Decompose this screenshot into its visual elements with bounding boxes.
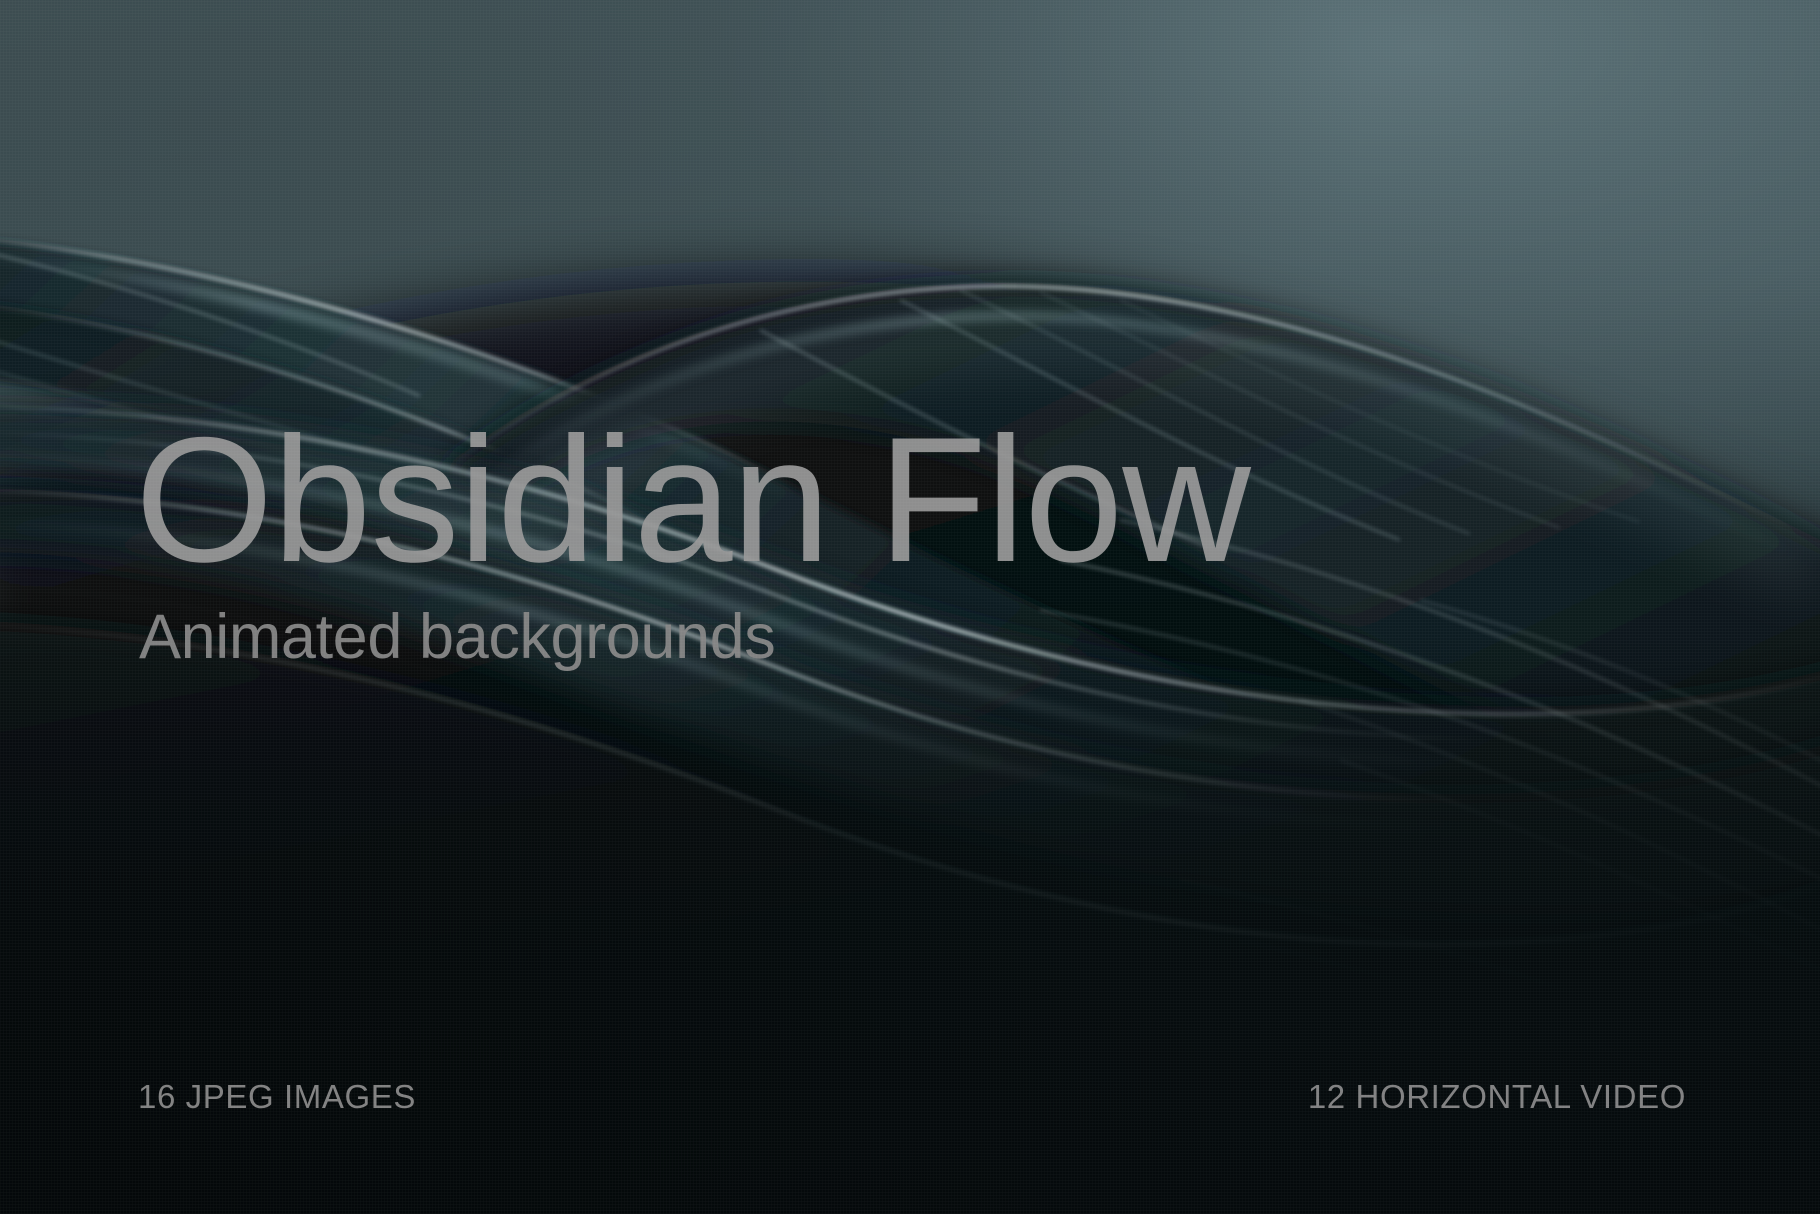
footer-label-video: 12 HORIZONTAL VIDEO [1308,1078,1686,1116]
page-subtitle: Animated backgrounds [139,604,1535,670]
cover-artwork: Obsidian Flow Animated backgrounds 16 JP… [0,0,1820,1214]
footer-label-images: 16 JPEG IMAGES [138,1078,416,1116]
page-title: Obsidian Flow [135,415,1535,586]
title-block: Obsidian Flow Animated backgrounds [135,415,1535,670]
footer-bar: 16 JPEG IMAGES 12 HORIZONTAL VIDEO [138,1078,1686,1116]
